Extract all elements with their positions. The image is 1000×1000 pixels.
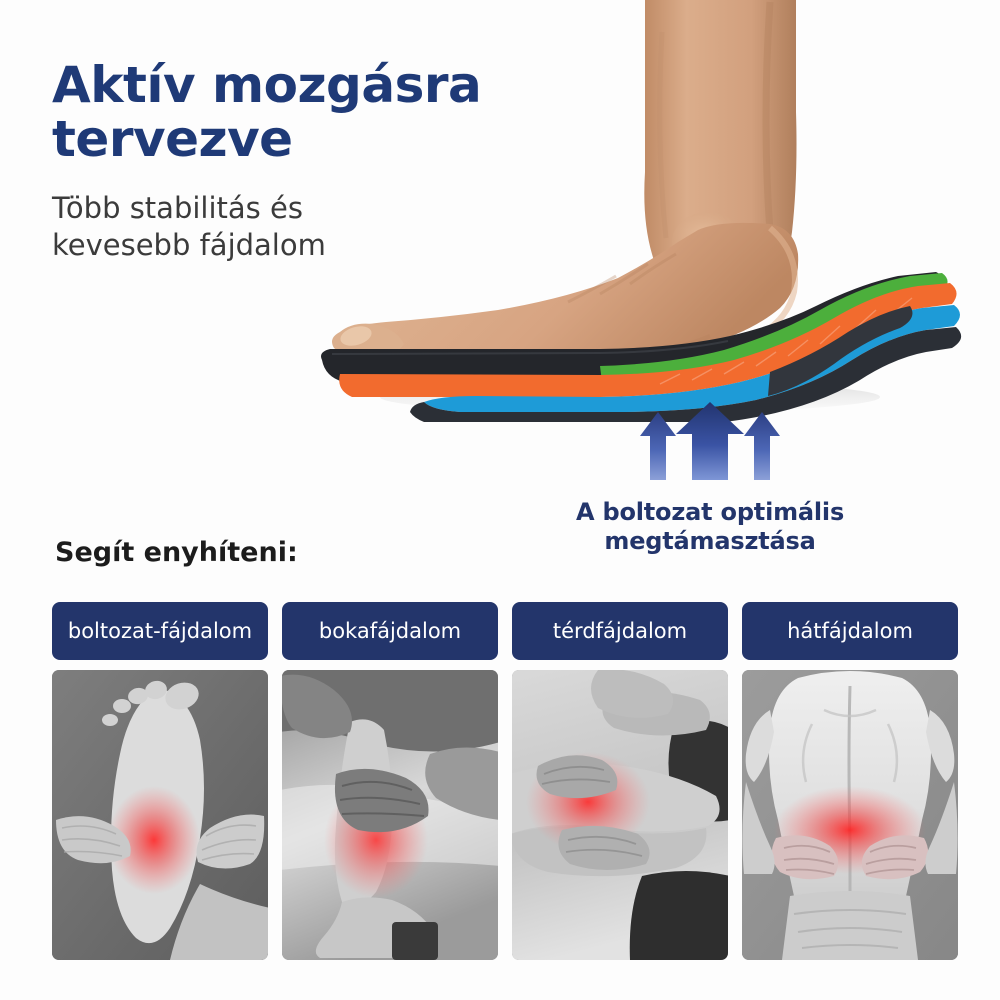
subheadline: Több stabilitás és kevesebb fájdalom [52,190,352,264]
pain-item-knee: térdfájdalom [512,602,728,960]
pain-chip-ankle[interactable]: bokafájdalom [282,602,498,660]
section-heading: Segít enyhíteni: [55,537,298,568]
pain-item-back: hátfájdalom [742,602,958,960]
arch-support-caption: A boltozat optimális megtámasztása [560,498,860,557]
pain-item-ankle: bokafájdalom [282,602,498,960]
foot-arch-pain-photo [52,670,268,960]
ankle-pain-photo [282,670,498,960]
upward-arrows-group [600,400,820,482]
dark-background [630,871,728,960]
headline-line-2: tervezve [52,110,293,168]
arrow-up-right-icon [744,412,780,480]
pain-chip-knee[interactable]: térdfájdalom [512,602,728,660]
caption-line-1: A boltozat optimális [576,498,844,526]
arch-support-callout: A boltozat optimális megtámasztása [560,400,860,557]
pain-relief-grid: boltozat-fájdalom [52,602,958,960]
headline-block: Aktív mozgásra tervezve Több stabilitás … [52,58,522,264]
headline-line-1: Aktív mozgásra [52,56,481,114]
shorts-waistband [782,891,918,960]
lower-back-pain-photo [742,670,958,960]
infographic-page: Aktív mozgásra tervezve Több stabilitás … [0,0,1000,1000]
page-title: Aktív mozgásra tervezve [52,58,522,166]
pain-chip-back[interactable]: hátfájdalom [742,602,958,660]
pain-item-arch: boltozat-fájdalom [52,602,268,960]
caption-line-2: megtámasztása [604,527,815,555]
stool-base [392,922,438,960]
pain-chip-arch[interactable]: boltozat-fájdalom [52,602,268,660]
knee-pain-photo [512,670,728,960]
arrow-up-center-icon [676,402,744,480]
arrow-up-left-icon [640,412,676,480]
